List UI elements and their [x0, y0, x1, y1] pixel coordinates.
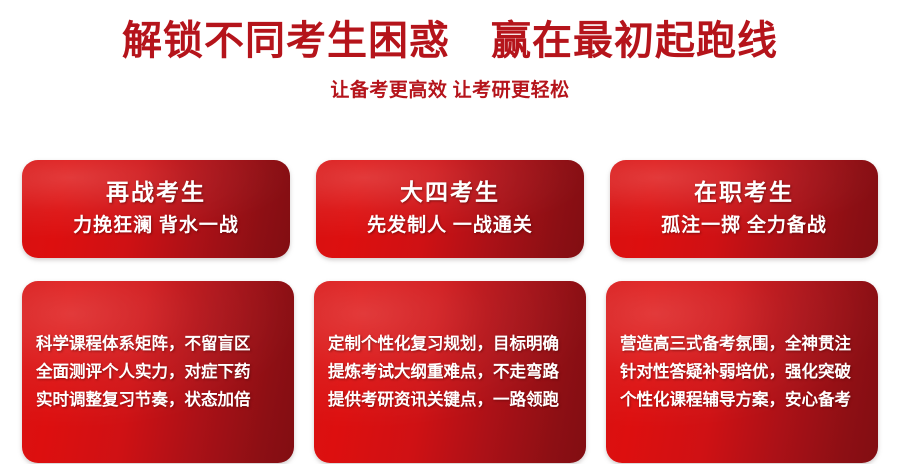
benefit-card-row: 科学课程体系矩阵，不留盲区 全面测评个人实力，对症下药 实时调整复习节奏，状态加…	[0, 281, 900, 463]
benefit-line: 全面测评个人实力，对症下药	[36, 358, 251, 386]
benefit-line: 个性化课程辅导方案，安心备考	[620, 386, 851, 414]
benefit-line: 定制个性化复习规划，目标明确	[328, 330, 559, 358]
benefit-line: 提炼考试大纲重难点，不走弯路	[328, 358, 559, 386]
audience-card-row: 再战考生 力挽狂澜 背水一战 大四考生 先发制人 一战通关 在职考生 孤注一掷 …	[0, 160, 900, 258]
audience-card-title: 大四考生	[400, 177, 500, 209]
audience-card-title: 在职考生	[694, 177, 794, 209]
benefit-card-text: 营造高三式备考氛围，全神贯注 针对性答疑补弱培优，强化突破 个性化课程辅导方案，…	[620, 330, 851, 414]
benefit-line: 提供考研资讯关键点，一路领跑	[328, 386, 559, 414]
page-title: 解锁不同考生困惑 赢在最初起跑线	[0, 14, 900, 68]
promo-banner: 解锁不同考生困惑 赢在最初起跑线 让备考更高效 让考研更轻松 再战考生 力挽狂澜…	[0, 0, 900, 464]
benefit-line: 实时调整复习节奏，状态加倍	[36, 386, 251, 414]
page-subtitle: 让备考更高效 让考研更轻松	[0, 76, 900, 106]
benefit-card-text: 定制个性化复习规划，目标明确 提炼考试大纲重难点，不走弯路 提供考研资讯关键点，…	[328, 330, 559, 414]
benefit-card-text: 科学课程体系矩阵，不留盲区 全面测评个人实力，对症下药 实时调整复习节奏，状态加…	[36, 330, 251, 414]
audience-card-retaker[interactable]: 再战考生 力挽狂澜 背水一战	[22, 160, 290, 258]
audience-card-title: 再战考生	[106, 177, 206, 209]
audience-card-inservice[interactable]: 在职考生 孤注一掷 全力备战	[610, 160, 878, 258]
audience-card-senior[interactable]: 大四考生 先发制人 一战通关	[316, 160, 584, 258]
benefit-card-inservice[interactable]: 营造高三式备考氛围，全神贯注 针对性答疑补弱培优，强化突破 个性化课程辅导方案，…	[606, 281, 878, 463]
audience-card-slogan: 先发制人 一战通关	[367, 211, 533, 241]
audience-card-slogan: 力挽狂澜 背水一战	[73, 211, 239, 241]
benefit-line: 营造高三式备考氛围，全神贯注	[620, 330, 851, 358]
benefit-card-retaker[interactable]: 科学课程体系矩阵，不留盲区 全面测评个人实力，对症下药 实时调整复习节奏，状态加…	[22, 281, 294, 463]
benefit-card-senior[interactable]: 定制个性化复习规划，目标明确 提炼考试大纲重难点，不走弯路 提供考研资讯关键点，…	[314, 281, 586, 463]
benefit-line: 科学课程体系矩阵，不留盲区	[36, 330, 251, 358]
audience-card-slogan: 孤注一掷 全力备战	[661, 211, 827, 241]
banner-header: 解锁不同考生困惑 赢在最初起跑线 让备考更高效 让考研更轻松	[0, 0, 900, 106]
benefit-line: 针对性答疑补弱培优，强化突破	[620, 358, 851, 386]
